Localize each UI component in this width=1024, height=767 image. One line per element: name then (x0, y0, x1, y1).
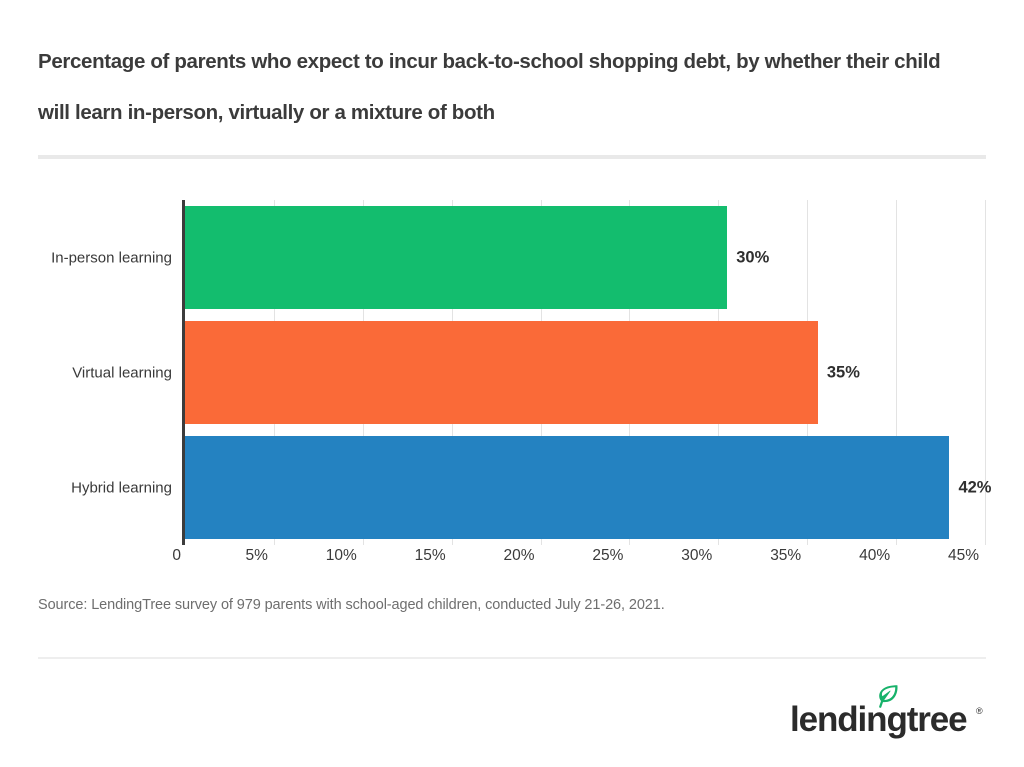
title-divider (38, 155, 986, 159)
y-axis-line (182, 200, 185, 545)
category-label-in-person-learning: In-person learning (0, 249, 172, 266)
x-tick-45%: 45% (921, 547, 979, 565)
bar-row: 35% (185, 321, 985, 424)
x-tick-20%: 20% (477, 547, 535, 565)
x-tick-15%: 15% (388, 547, 446, 565)
plot-area: 30%35%42% (185, 200, 985, 545)
x-tick-0: 0 (167, 547, 181, 565)
lendingtree-logo: lendingtree ® (790, 684, 990, 736)
x-axis-tick-labels: 05%10%15%20%25%30%35%40%45% (0, 547, 1024, 575)
x-tick-25%: 25% (565, 547, 623, 565)
bar-value-label: 42% (958, 478, 991, 497)
bar-in-person-learning[interactable] (185, 206, 727, 309)
category-label-hybrid-learning: Hybrid learning (0, 479, 172, 496)
bar-value-label: 35% (827, 363, 860, 382)
category-axis-labels: In-person learningVirtual learningHybrid… (0, 200, 172, 545)
x-tick-5%: 5% (210, 547, 268, 565)
logo-wordmark: lendingtree (790, 700, 967, 740)
category-label-virtual-learning: Virtual learning (0, 364, 172, 381)
bar-value-label: 30% (736, 248, 769, 267)
page-title-line-1: Percentage of parents who expect to incu… (38, 52, 978, 73)
x-tick-40%: 40% (832, 547, 890, 565)
bar-chart: 30%35%42% In-person learningVirtual lear… (0, 185, 1024, 570)
chart-page: Percentage of parents who expect to incu… (0, 0, 1024, 767)
bar-row: 42% (185, 436, 985, 539)
page-title: Percentage of parents who expect to incu… (38, 52, 978, 123)
x-tick-10%: 10% (299, 547, 357, 565)
source-note: Source: LendingTree survey of 979 parent… (38, 597, 665, 613)
x-tick-30%: 30% (654, 547, 712, 565)
logo-registered-mark: ® (976, 706, 983, 716)
bar-virtual-learning[interactable] (185, 321, 818, 424)
x-tick-35%: 35% (743, 547, 801, 565)
footer-divider (38, 657, 986, 659)
bar-row: 30% (185, 206, 985, 309)
page-title-line-2: will learn in-person, virtually or a mix… (38, 103, 978, 124)
bar-hybrid-learning[interactable] (185, 436, 949, 539)
